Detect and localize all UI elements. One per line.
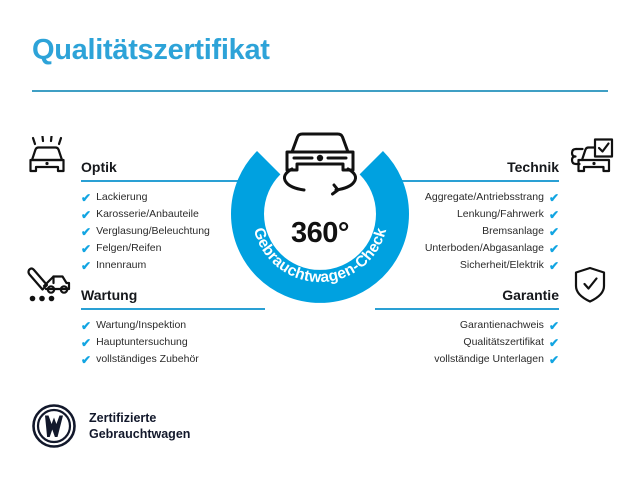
list-item: Aggregate/Antriebsstrang✔ (406, 189, 616, 206)
check-icon: ✔ (81, 354, 91, 366)
list-item: ✔Karosserie/Anbauteile (24, 206, 234, 223)
list-item-label: Qualitätszertifikat (463, 334, 544, 351)
list-item-label: Lenkung/Fahrwerk (457, 206, 544, 223)
title-divider (32, 90, 608, 92)
list-item: Bremsanlage✔ (406, 223, 616, 240)
footer-logo-line1: Zertifizierte (89, 410, 190, 426)
section-header-wartung: Wartung (24, 264, 234, 308)
footer-logo-line2: Gebrauchtwagen (89, 426, 190, 442)
check-icon: ✔ (549, 320, 559, 332)
checklist-wartung: ✔Wartung/Inspektion ✔Hauptuntersuchung ✔… (24, 317, 234, 368)
shield-check-icon (564, 264, 616, 306)
section-title-garantie: Garantie (502, 287, 559, 303)
checklist-optik: ✔Lackierung ✔Karosserie/Anbauteile ✔Verg… (24, 189, 234, 274)
check-icon: ✔ (549, 226, 559, 238)
volkswagen-logo-icon (32, 404, 76, 448)
check-icon: ✔ (81, 243, 91, 255)
page-title: Qualitätszertifikat (32, 34, 270, 67)
certificate-page: Qualitätszertifikat (0, 0, 640, 480)
check-icon: ✔ (81, 209, 91, 221)
check-icon: ✔ (81, 337, 91, 349)
check-icon: ✔ (549, 354, 559, 366)
check-icon: ✔ (81, 192, 91, 204)
check-icon: ✔ (81, 320, 91, 332)
section-wartung: Wartung ✔Wartung/Inspektion ✔Hauptunters… (24, 264, 234, 368)
list-item: ✔Wartung/Inspektion (24, 317, 234, 334)
list-item: Qualitätszertifikat✔ (406, 334, 616, 351)
section-divider-garantie (406, 308, 559, 310)
list-item-label: Verglasung/Beleuchtung (96, 223, 210, 240)
section-title-wartung: Wartung (81, 287, 137, 303)
list-item: Unterboden/Abgasanlage✔ (406, 240, 616, 257)
footer-logo-text: Zertifizierte Gebrauchtwagen (89, 410, 190, 442)
section-optik: Optik ✔Lackierung ✔Karosserie/Anbauteile… (24, 136, 234, 274)
badge-center-text: 360° (228, 217, 412, 250)
section-technik: Technik Aggregate/Antriebsstrang✔ Lenkun… (406, 136, 616, 274)
list-item: ✔Felgen/Reifen (24, 240, 234, 257)
list-item: ✔Verglasung/Beleuchtung (24, 223, 234, 240)
check-icon: ✔ (81, 226, 91, 238)
list-item: Garantienachweis✔ (406, 317, 616, 334)
check-icon: ✔ (549, 337, 559, 349)
checklist-garantie: Garantienachweis✔ Qualitätszertifikat✔ v… (406, 317, 616, 368)
checklist-technik: Aggregate/Antriebsstrang✔ Lenkung/Fahrwe… (406, 189, 616, 274)
list-item-label: vollständiges Zubehör (96, 351, 199, 368)
footer-logo-block: Zertifizierte Gebrauchtwagen (32, 404, 190, 448)
check-icon: ✔ (549, 192, 559, 204)
check-icon: ✔ (549, 243, 559, 255)
list-item-label: Hauptuntersuchung (96, 334, 188, 351)
section-title-technik: Technik (507, 159, 559, 175)
list-item-label: Bremsanlage (482, 223, 544, 240)
wrench-car-service-icon (24, 264, 76, 306)
list-item-label: Karosserie/Anbauteile (96, 206, 199, 223)
section-header-garantie: Garantie (406, 264, 616, 308)
list-item: Lenkung/Fahrwerk✔ (406, 206, 616, 223)
car-shine-icon (24, 136, 76, 178)
list-item-label: Felgen/Reifen (96, 240, 161, 257)
list-item: ✔Lackierung (24, 189, 234, 206)
section-title-optik: Optik (81, 159, 117, 175)
section-garantie: Garantie Garantienachweis✔ Qualitätszert… (406, 264, 616, 368)
list-item: vollständige Unterlagen✔ (406, 351, 616, 368)
list-item-label: Aggregate/Antriebsstrang (425, 189, 544, 206)
list-item-label: Lackierung (96, 189, 147, 206)
list-item: ✔Hauptuntersuchung (24, 334, 234, 351)
section-header-optik: Optik (24, 136, 234, 180)
list-item-label: vollständige Unterlagen (434, 351, 544, 368)
list-item-label: Wartung/Inspektion (96, 317, 186, 334)
car-rotate-360-icon (284, 134, 355, 194)
section-divider-optik (81, 180, 234, 182)
section-header-technik: Technik (406, 136, 616, 180)
section-divider-technik (406, 180, 559, 182)
check-icon: ✔ (549, 209, 559, 221)
list-item-label: Garantienachweis (460, 317, 544, 334)
list-item-label: Unterboden/Abgasanlage (425, 240, 544, 257)
badge-360-gebrauchtwagen-check: Gebrauchtwagen-Check 360° (228, 122, 412, 306)
car-checkbox-icon (564, 136, 616, 178)
section-divider-wartung (81, 308, 234, 310)
list-item: ✔vollständiges Zubehör (24, 351, 234, 368)
